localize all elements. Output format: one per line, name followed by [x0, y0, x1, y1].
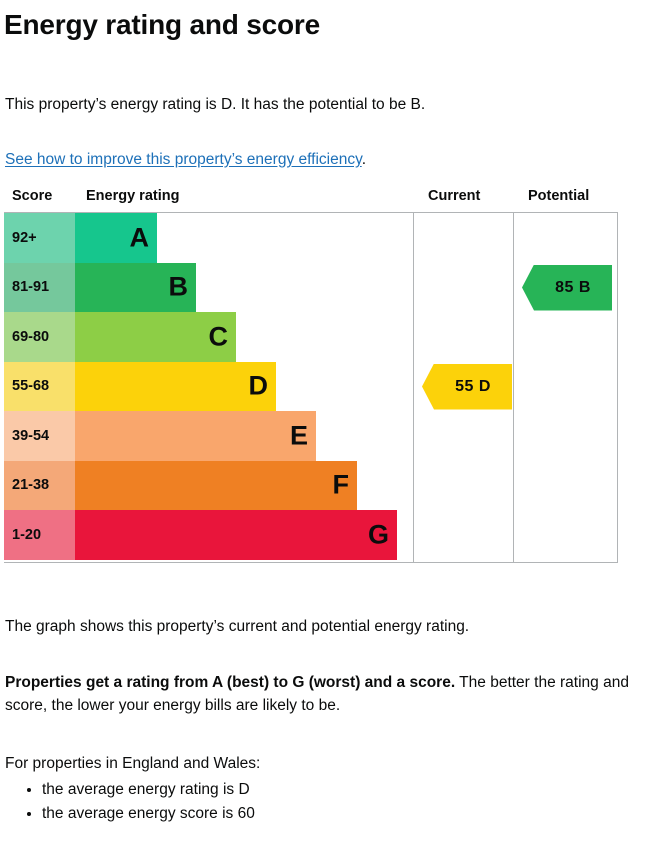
band-letter-label: G — [368, 521, 389, 548]
list-item: the average energy score is 60 — [42, 802, 255, 826]
band-score-label: 55-68 — [12, 378, 49, 394]
band-score-g: 1-20 — [4, 510, 75, 560]
band-letter-label: C — [209, 323, 229, 350]
band-row-f: 21-38F — [4, 461, 413, 511]
band-bar-f: F — [75, 461, 357, 511]
marker-current-rating: 55 D — [422, 364, 512, 410]
rating-explainer-bold: Properties get a rating from A (best) to… — [5, 674, 455, 691]
header-score: Score — [12, 188, 52, 204]
band-row-d: 55-68D — [4, 362, 413, 412]
improve-efficiency-link[interactable]: See how to improve this property’s energ… — [5, 151, 362, 168]
graph-bottom-border — [4, 562, 618, 563]
list-item: the average energy rating is D — [42, 778, 255, 802]
epc-energy-rating-page: Energy rating and score This property’s … — [0, 0, 666, 863]
band-bar-e: E — [75, 411, 316, 461]
average-list: the average energy rating is Dthe averag… — [5, 778, 255, 826]
band-score-label: 1-20 — [12, 527, 41, 543]
band-score-c: 69-80 — [4, 312, 75, 362]
graph-note: The graph shows this property’s current … — [5, 617, 469, 637]
column-divider-current — [413, 213, 414, 562]
column-divider-right-edge — [617, 213, 618, 562]
band-score-f: 21-38 — [4, 461, 75, 511]
graph-body: 92+A81-91B69-80C55-68D39-54E21-38F1-20G5… — [4, 213, 618, 562]
header-current: Current — [428, 188, 480, 204]
header-potential: Potential — [528, 188, 589, 204]
band-bar-g: G — [75, 510, 397, 560]
band-row-g: 1-20G — [4, 510, 413, 560]
band-letter-label: F — [333, 472, 350, 499]
marker-potential-rating: 85 B — [522, 265, 612, 311]
region-lead: For properties in England and Wales: — [5, 754, 260, 774]
marker-label: 85 B — [543, 279, 591, 297]
band-bar-d: D — [75, 362, 276, 412]
band-row-a: 92+A — [4, 213, 413, 263]
band-bar-a: A — [75, 213, 157, 263]
band-row-c: 69-80C — [4, 312, 413, 362]
band-letter-label: D — [249, 373, 269, 400]
improve-link-period: . — [362, 151, 366, 168]
band-score-label: 92+ — [12, 230, 37, 246]
band-score-e: 39-54 — [4, 411, 75, 461]
band-score-label: 81-91 — [12, 279, 49, 295]
band-score-label: 21-38 — [12, 477, 49, 493]
band-score-label: 69-80 — [12, 329, 49, 345]
band-letter-label: A — [130, 224, 150, 251]
band-score-label: 39-54 — [12, 428, 49, 444]
marker-label: 55 D — [443, 378, 491, 396]
band-row-e: 39-54E — [4, 411, 413, 461]
band-bar-c: C — [75, 312, 236, 362]
band-score-a: 92+ — [4, 213, 75, 263]
improve-efficiency-link-wrapper: See how to improve this property’s energ… — [5, 150, 366, 170]
band-letter-label: E — [290, 422, 308, 449]
intro-paragraph: This property’s energy rating is D. It h… — [5, 95, 425, 115]
band-row-b: 81-91B — [4, 263, 413, 313]
graph-header-row: Score Energy rating Current Potential — [4, 186, 618, 213]
energy-rating-graph: Score Energy rating Current Potential 92… — [4, 186, 618, 562]
header-energy-rating: Energy rating — [86, 188, 179, 204]
band-letter-label: B — [169, 274, 189, 301]
band-score-b: 81-91 — [4, 263, 75, 313]
column-divider-potential — [513, 213, 514, 562]
band-score-d: 55-68 — [4, 362, 75, 412]
page-title: Energy rating and score — [4, 8, 320, 42]
band-bar-b: B — [75, 263, 196, 313]
rating-explainer: Properties get a rating from A (best) to… — [5, 671, 630, 717]
